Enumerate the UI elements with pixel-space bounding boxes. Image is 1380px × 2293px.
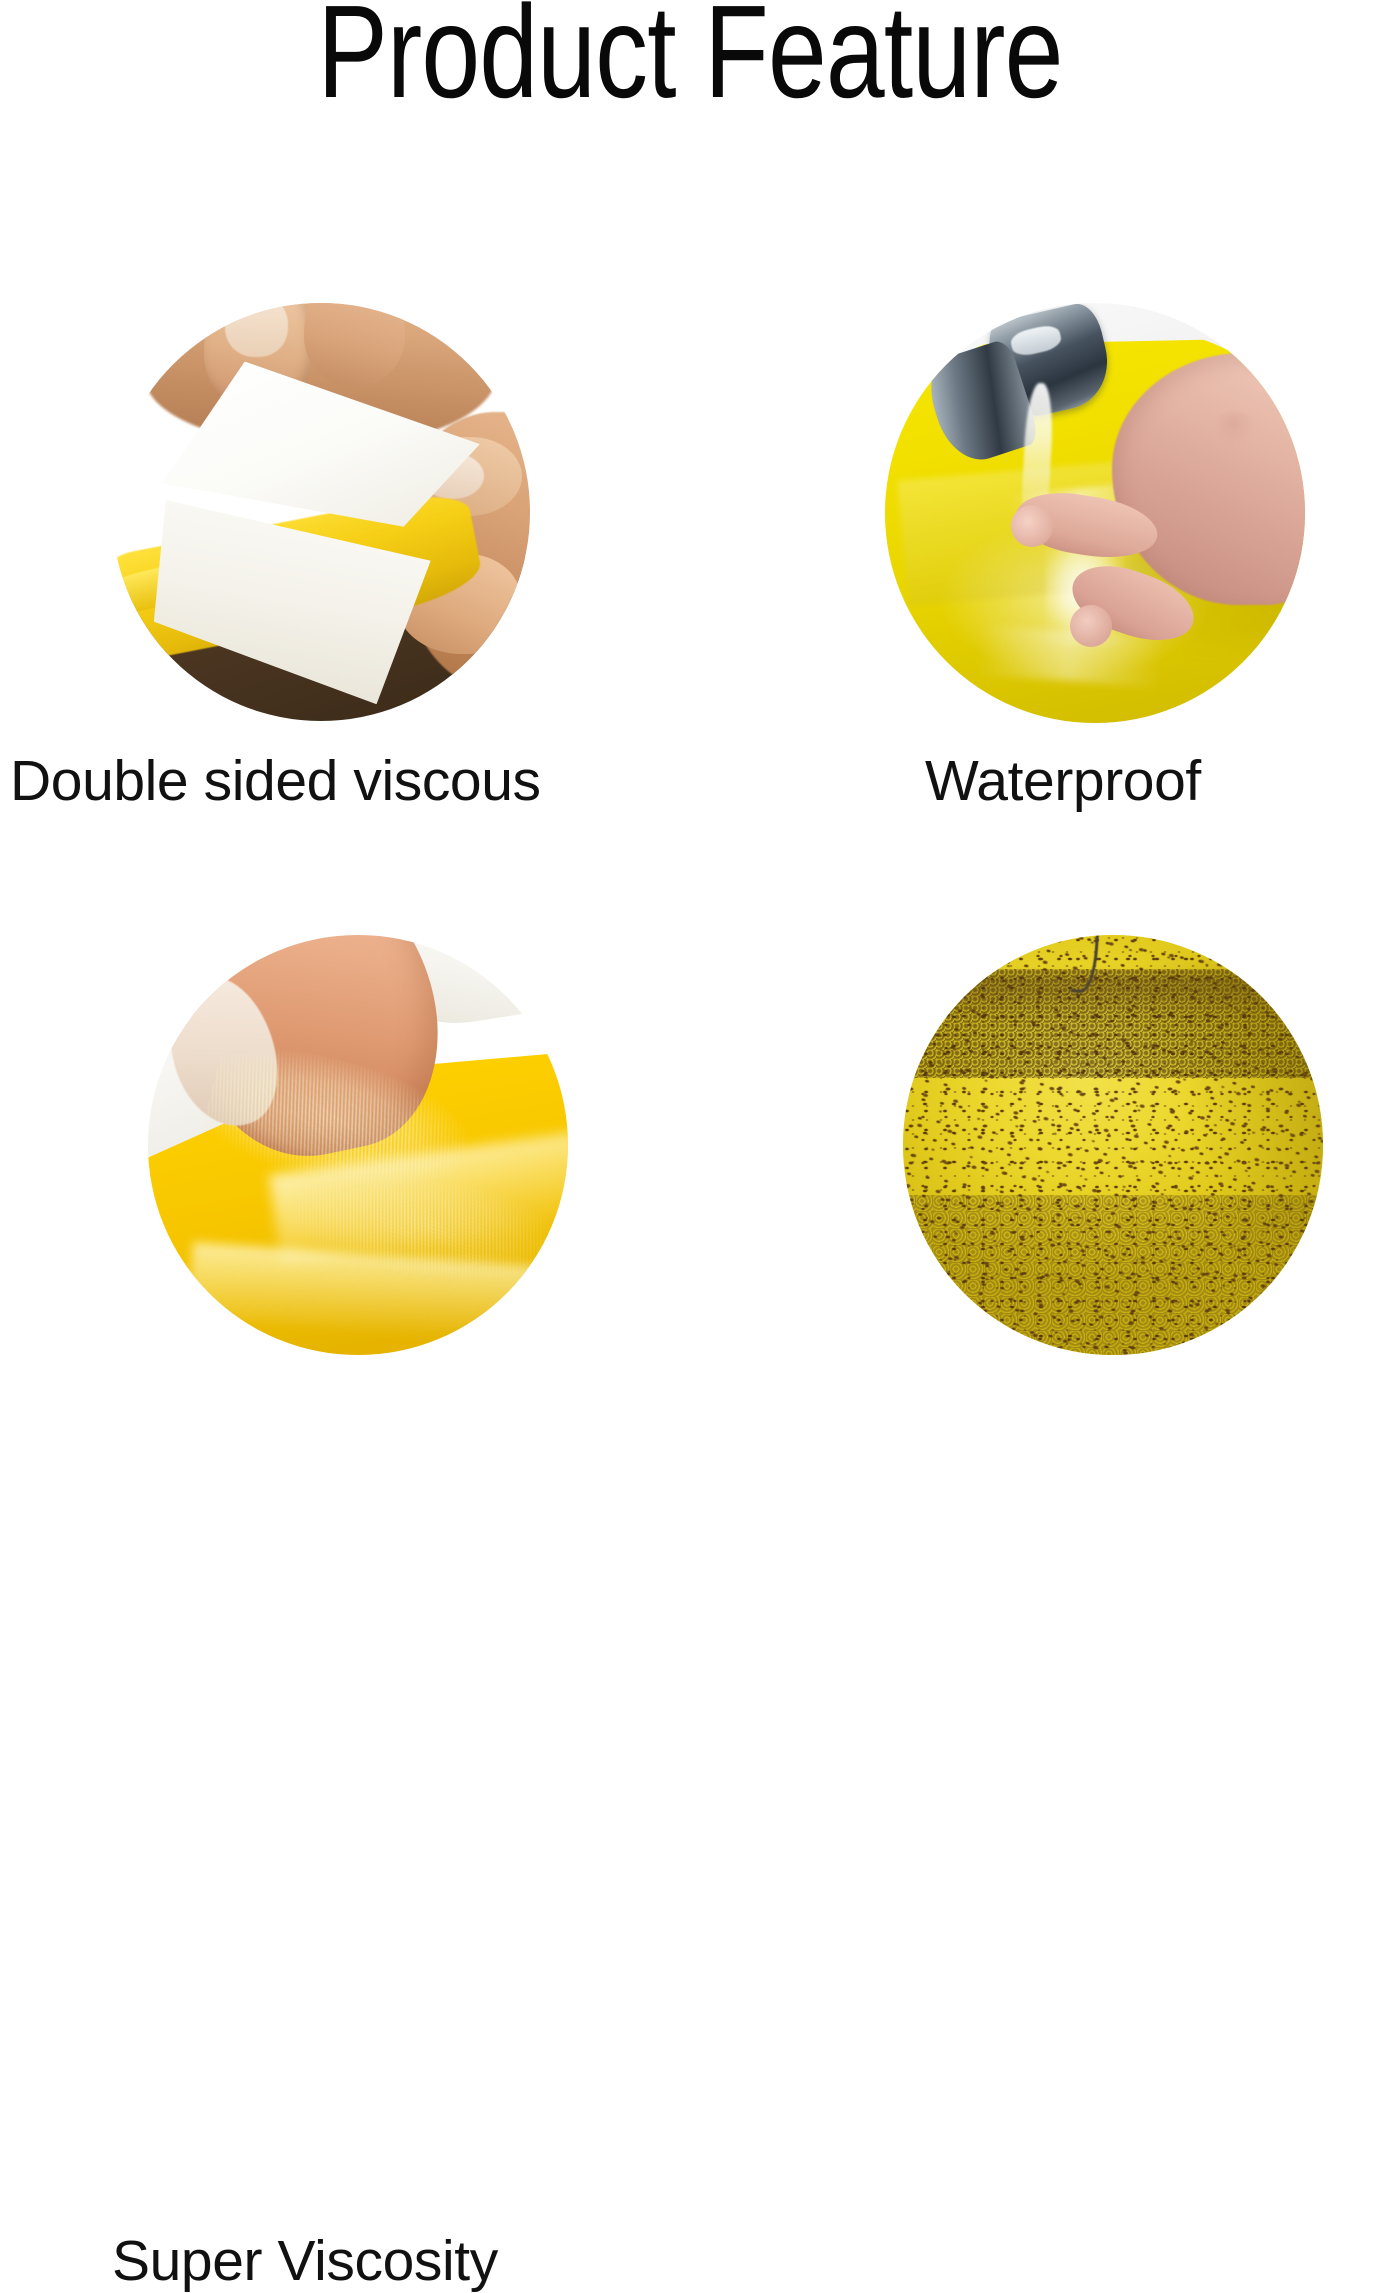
- fingertip-index: [1011, 505, 1053, 547]
- right-side-shading: [1147, 960, 1323, 1355]
- feature-image-large-viscous-area: [903, 935, 1323, 1355]
- feature-cell-super-viscosity: Super Viscosity: [0, 830, 690, 1465]
- feature-cell-waterproof: Waterproof: [690, 0, 1380, 830]
- knuckle-highlight: [1213, 412, 1255, 441]
- feature-cell-large-viscous-area: Large viscous area: [690, 830, 1380, 1465]
- fingertip-middle: [1070, 605, 1112, 647]
- feature-label-waterproof: Waterproof: [925, 750, 1201, 812]
- product-feature-infographic: Product Feature Double sided viscous: [0, 0, 1380, 1465]
- feature-label-double-sided-viscous: Double sided viscous: [10, 750, 541, 812]
- feature-cell-double-sided-viscous: Double sided viscous: [0, 0, 690, 830]
- feature-label-super-viscosity: Super Viscosity: [112, 2230, 498, 2292]
- feature-image-waterproof: [885, 303, 1305, 723]
- feature-image-double-sided-viscous: [112, 303, 530, 721]
- feature-image-super-viscosity: [148, 935, 568, 1355]
- thumbnail-left: [225, 303, 288, 357]
